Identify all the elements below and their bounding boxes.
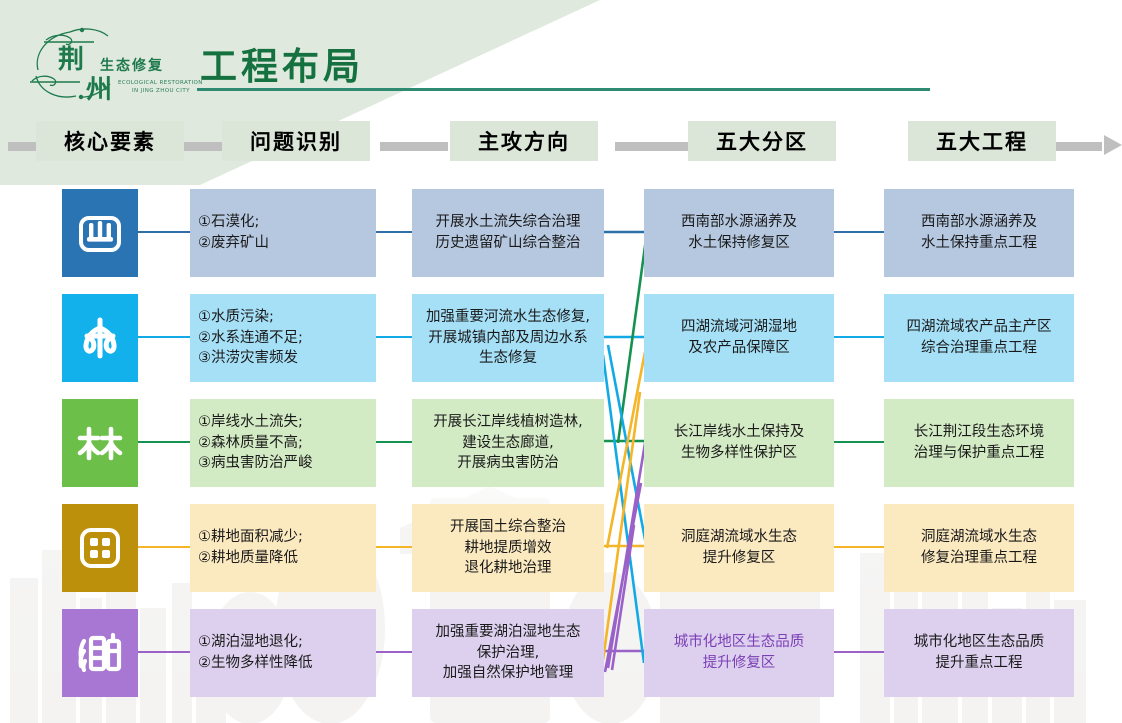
problem-text-lake: ①湖泊湿地退化; ②生物多样性降低 <box>198 632 368 673</box>
direction-cell-forest[interactable]: 开展长江岸线植树造林, 建设生态廊道, 开展病虫害防治 <box>412 399 604 487</box>
direction-cell-lake[interactable]: 加强重要湖泊湿地生态 保护治理, 加强自然保护地管理 <box>412 609 604 697</box>
direction-cell-mountain[interactable]: 开展水土流失综合治理 历史遗留矿山综合整治 <box>412 189 604 277</box>
direction-text-lake: 加强重要湖泊湿地生态 保护治理, 加强自然保护地管理 <box>420 622 596 684</box>
project-cell-forest[interactable]: 长江荆江段生态环境 治理与保护重点工程 <box>884 399 1074 487</box>
direction-text-farmland: 开展国土综合整治 耕地提质增效 退化耕地治理 <box>420 517 596 579</box>
column-header-problem-identification[interactable]: 问题识别 <box>222 121 370 161</box>
connector-water-problem <box>138 336 190 338</box>
project-cell-lake[interactable]: 城市化地区生态品质 提升重点工程 <box>884 609 1074 697</box>
connector-forest-problem <box>138 441 190 443</box>
project-text-water: 四湖流域农产品主产区 综合治理重点工程 <box>892 317 1066 358</box>
row-icon-water[interactable] <box>62 294 138 382</box>
connector-diagonal-forest-up <box>618 239 646 443</box>
zone-cell-farmland[interactable]: 洞庭湖流域水生态 提升修复区 <box>644 504 834 592</box>
flow-arrow-head <box>1104 135 1122 155</box>
logo-char-zhou: 州 <box>86 75 112 104</box>
connector-mountain-problem <box>138 231 190 233</box>
row-icon-mountain[interactable] <box>62 189 138 277</box>
problem-cell-farmland[interactable]: ①耕地面积减少; ②耕地质量降低 <box>190 504 376 592</box>
column-header-five-zones[interactable]: 五大分区 <box>688 121 836 161</box>
logo-char-jing: 荆 <box>58 45 84 75</box>
logo-sub-en-2: IN JING ZHOU CITY <box>132 88 190 94</box>
zone-text-lake: 城市化地区生态品质 提升修复区 <box>652 632 826 673</box>
farmland-icon <box>76 524 124 572</box>
zone-cell-mountain[interactable]: 西南部水源涵养及 水土保持修复区 <box>644 189 834 277</box>
connector-farmland-project <box>834 546 884 548</box>
connector-mountain-project <box>834 231 884 233</box>
connector-mountain-direction <box>376 231 412 233</box>
connector-farmland-problem <box>138 546 190 548</box>
flow-segment-2 <box>380 142 448 151</box>
connector-lake-direction <box>376 651 412 653</box>
zone-cell-forest[interactable]: 长江岸线水土保持及 生物多样性保护区 <box>644 399 834 487</box>
connector-lake-problem <box>138 651 190 653</box>
zone-text-forest: 长江岸线水土保持及 生物多样性保护区 <box>652 422 826 463</box>
connector-forest-project <box>834 441 884 443</box>
project-cell-water[interactable]: 四湖流域农产品主产区 综合治理重点工程 <box>884 294 1074 382</box>
problem-cell-water[interactable]: ①水质污染; ②水系连通不足; ③洪涝灾害频发 <box>190 294 376 382</box>
problem-text-forest: ①岸线水土流失; ②森林质量不高; ③病虫害防治严峻 <box>198 412 368 474</box>
problem-text-mountain: ①石漠化; ②废弃矿山 <box>198 212 368 253</box>
zone-cell-water[interactable]: 四湖流域河湖湿地 及农产品保障区 <box>644 294 834 382</box>
column-header-main-direction[interactable]: 主攻方向 <box>450 121 598 161</box>
zone-text-water: 四湖流域河湖湿地 及农产品保障区 <box>652 317 826 358</box>
connector-farmland-direction <box>376 546 412 548</box>
direction-text-forest: 开展长江岸线植树造林, 建设生态廊道, 开展病虫害防治 <box>420 412 596 474</box>
title-underline <box>197 88 930 91</box>
problem-text-farmland: ①耕地面积减少; ②耕地质量降低 <box>198 527 368 568</box>
connector-water-direction <box>376 336 412 338</box>
logo-sub-en-1: ECOLOGICAL RESTORATION <box>118 80 202 86</box>
problem-cell-lake[interactable]: ①湖泊湿地退化; ②生物多样性降低 <box>190 609 376 697</box>
connector-lake-project <box>834 651 884 653</box>
column-header-five-projects[interactable]: 五大工程 <box>908 121 1056 161</box>
problem-cell-forest[interactable]: ①岸线水土流失; ②森林质量不高; ③病虫害防治严峻 <box>190 399 376 487</box>
zone-text-farmland: 洞庭湖流域水生态 提升修复区 <box>652 527 826 568</box>
connector-water-project <box>834 336 884 338</box>
flow-segment-3 <box>615 142 690 151</box>
connector-forest-direction <box>376 441 412 443</box>
water-icon <box>74 312 126 364</box>
project-cell-mountain[interactable]: 西南部水源涵养及 水土保持重点工程 <box>884 189 1074 277</box>
project-text-farmland: 洞庭湖流域水生态 修复治理重点工程 <box>892 527 1066 568</box>
problem-text-water: ①水质污染; ②水系连通不足; ③洪涝灾害频发 <box>198 307 368 369</box>
jingzhou-eco-logo: 荆 州 生态修复 ECOLOGICAL RESTORATION IN JING … <box>24 18 202 104</box>
row-icon-lake[interactable] <box>62 609 138 697</box>
column-header-core-elements[interactable]: 核心要素 <box>36 121 184 161</box>
lake-icon <box>74 627 126 679</box>
project-text-lake: 城市化地区生态品质 提升重点工程 <box>892 632 1066 673</box>
direction-cell-farmland[interactable]: 开展国土综合整治 耕地提质增效 退化耕地治理 <box>412 504 604 592</box>
forest-icon <box>74 417 126 469</box>
slide-canvas: 荆 州 生态修复 ECOLOGICAL RESTORATION IN JING … <box>0 0 1122 723</box>
direction-text-mountain: 开展水土流失综合治理 历史遗留矿山综合整治 <box>420 212 596 253</box>
page-title: 工程布局 <box>200 36 364 90</box>
zone-cell-lake[interactable]: 城市化地区生态品质 提升修复区 <box>644 609 834 697</box>
project-cell-farmland[interactable]: 洞庭湖流域水生态 修复治理重点工程 <box>884 504 1074 592</box>
problem-cell-mountain[interactable]: ①石漠化; ②废弃矿山 <box>190 189 376 277</box>
logo-mark: 荆 州 生态修复 ECOLOGICAL RESTORATION IN JING … <box>24 18 202 104</box>
row-icon-farmland[interactable] <box>62 504 138 592</box>
project-text-mountain: 西南部水源涵养及 水土保持重点工程 <box>892 212 1066 253</box>
project-text-forest: 长江荆江段生态环境 治理与保护重点工程 <box>892 422 1066 463</box>
mountain-icon <box>76 209 124 257</box>
zone-text-mountain: 西南部水源涵养及 水土保持修复区 <box>652 212 826 253</box>
direction-cell-water[interactable]: 加强重要河流水生态修复, 开展城镇内部及周边水系 生态修复 <box>412 294 604 382</box>
logo-sub-cn: 生态修复 <box>100 57 164 74</box>
direction-text-water: 加强重要河流水生态修复, 开展城镇内部及周边水系 生态修复 <box>420 307 596 369</box>
row-icon-forest[interactable] <box>62 399 138 487</box>
